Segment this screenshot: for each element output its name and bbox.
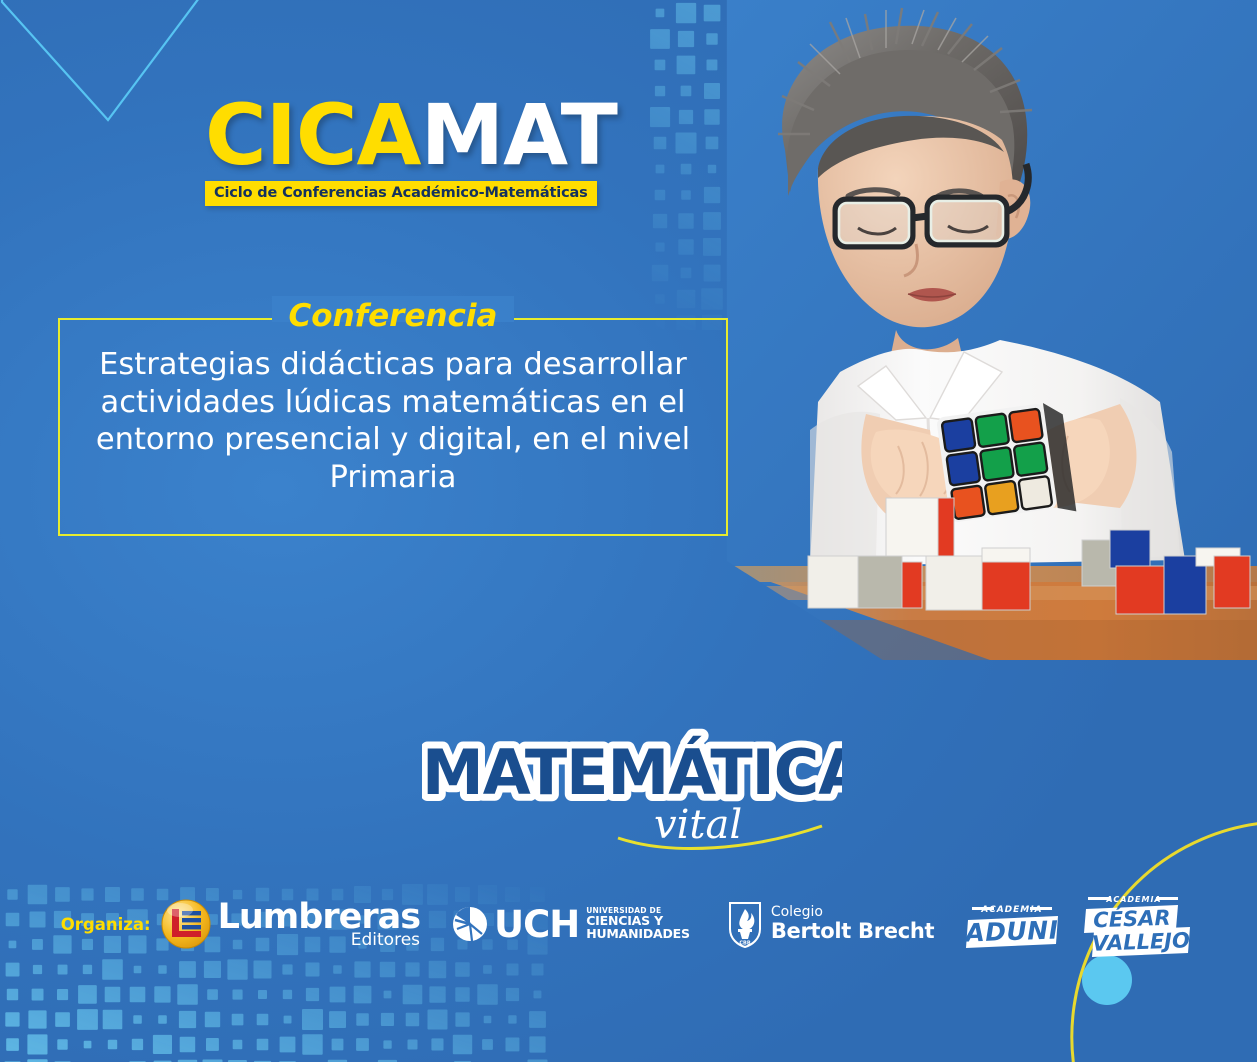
event-logo: CICAMAT Ciclo de Conferencias Académico-… — [205, 97, 605, 206]
conference-title-line: Primaria — [72, 459, 714, 497]
program-logo: MATEMÁTICA MATEMÁTICA vital — [422, 726, 842, 856]
poster-canvas: [] Niño con lentes resolviendo un cubo R… — [0, 0, 1257, 1062]
organiza-group: Organiza: Lumbreras — [61, 898, 420, 950]
uch-line-2: HUMANIDADES — [586, 928, 690, 941]
aduni-name: ADUNI — [964, 915, 1059, 947]
program-logo-main: MATEMÁTICA — [422, 736, 842, 809]
bertolt-brecht-wordmark: Colegio Bertolt Brecht — [771, 905, 934, 943]
event-logo-part-mat: MAT — [421, 86, 617, 184]
aduni-kicker: ACADEMIA — [981, 905, 1043, 915]
conference-card: Conferencia Estrategias didácticas para … — [58, 318, 728, 536]
conference-title-line: actividades lúdicas matemáticas en el — [72, 384, 714, 422]
cbb-line-top: Colegio — [771, 905, 934, 920]
cbb-name: Bertolt Brecht — [771, 920, 934, 943]
event-logo-part-cica: CICA — [205, 86, 421, 184]
conference-title: Estrategias didácticas para desarrollara… — [60, 346, 726, 496]
conference-label: Conferencia — [275, 298, 512, 334]
bertolt-brecht-shield-icon: CBB — [726, 899, 764, 949]
sponsors-bar: Organiza: Lumbreras — [0, 888, 1257, 960]
program-logo-script: vital — [654, 802, 742, 848]
event-subtitle-bar: Ciclo de Conferencias Académico-Matemáti… — [205, 181, 597, 206]
aduni-banner-icon: ACADEMIA ADUNI — [964, 898, 1060, 950]
cv-kicker: ACADEMIA — [1106, 895, 1162, 904]
hero-photo: Niño con lentes resolviendo un cubo Rubi… — [690, 0, 1257, 660]
uch-sunburst-icon — [450, 904, 490, 944]
corner-triangle-icon — [0, 0, 210, 130]
organiza-label: Organiza: — [61, 915, 151, 934]
lumbreras-book-icon — [160, 898, 212, 950]
cbb-shield-text: CBB — [739, 941, 750, 947]
bertolt-brecht-group: CBB Colegio Bertolt Brecht — [726, 899, 934, 949]
cv-name-line2: VALLEJO — [1092, 928, 1191, 955]
lumbreras-wordmark: Lumbreras Editores — [218, 900, 420, 949]
cesar-vallejo-banner-icon: ACADEMIA CÉSAR VALLEJO — [1078, 891, 1196, 957]
conference-title-line: Estrategias didácticas para desarrollar — [72, 346, 714, 384]
cv-name-line1: CÉSAR — [1093, 905, 1171, 933]
event-logo-wordmark: CICAMAT — [205, 97, 605, 174]
conference-title-line: entorno presencial y digital, en el nive… — [72, 421, 714, 459]
uch-wordmark: UNIVERSIDAD DE CIENCIAS Y HUMANIDADES — [586, 907, 690, 940]
uch-abbrev: UCH — [494, 903, 579, 946]
uch-group: UCH UNIVERSIDAD DE CIENCIAS Y HUMANIDADE… — [450, 903, 690, 946]
